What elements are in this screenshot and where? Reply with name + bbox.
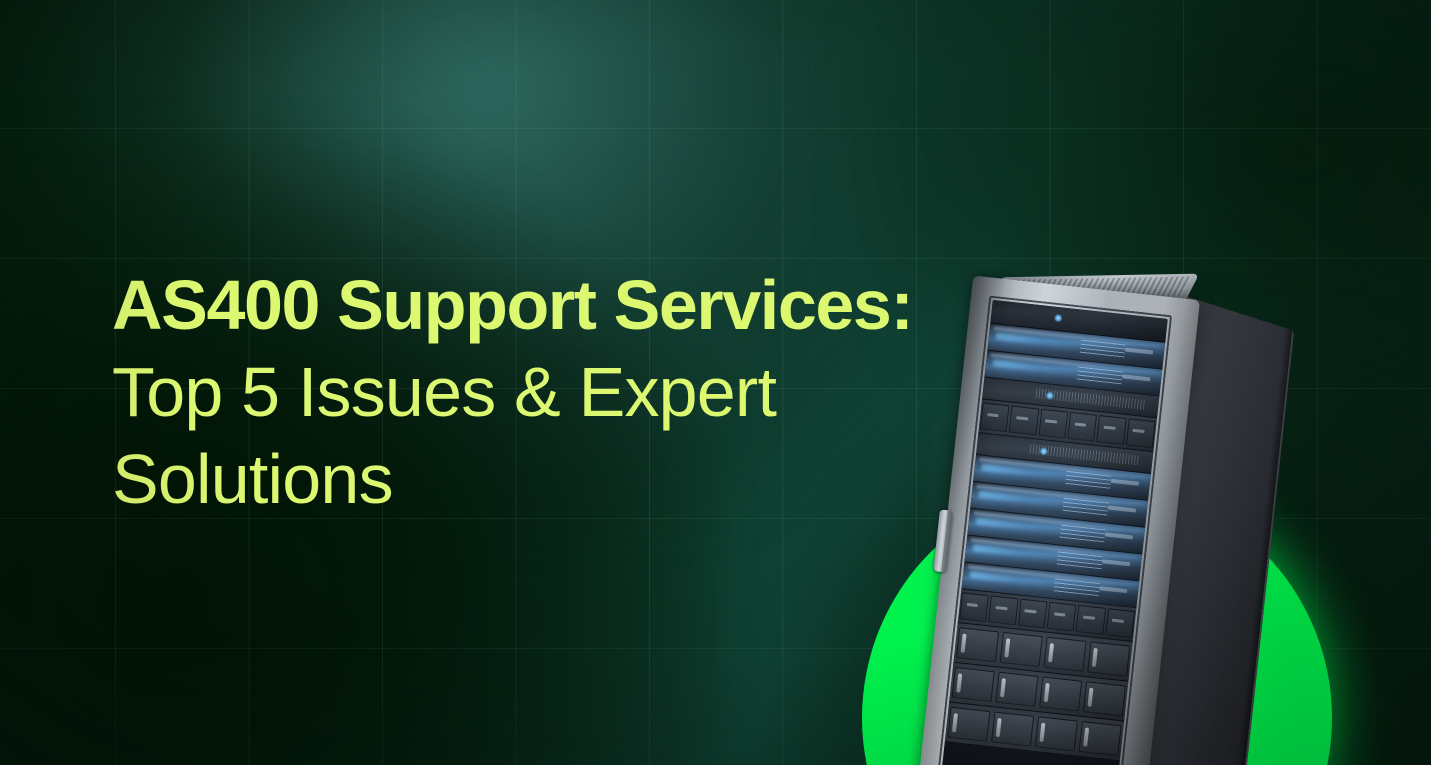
- server-rack-side-edge: [1225, 328, 1292, 765]
- page-title-emphasis: AS400 Support Services:: [112, 266, 912, 344]
- page-title-rest: Top 5 Issues & Expert Solutions: [112, 353, 776, 518]
- page-title: AS400 Support Services: Top 5 Issues & E…: [112, 262, 992, 523]
- hero-banner: AS400 Support Services: Top 5 Issues & E…: [0, 0, 1431, 765]
